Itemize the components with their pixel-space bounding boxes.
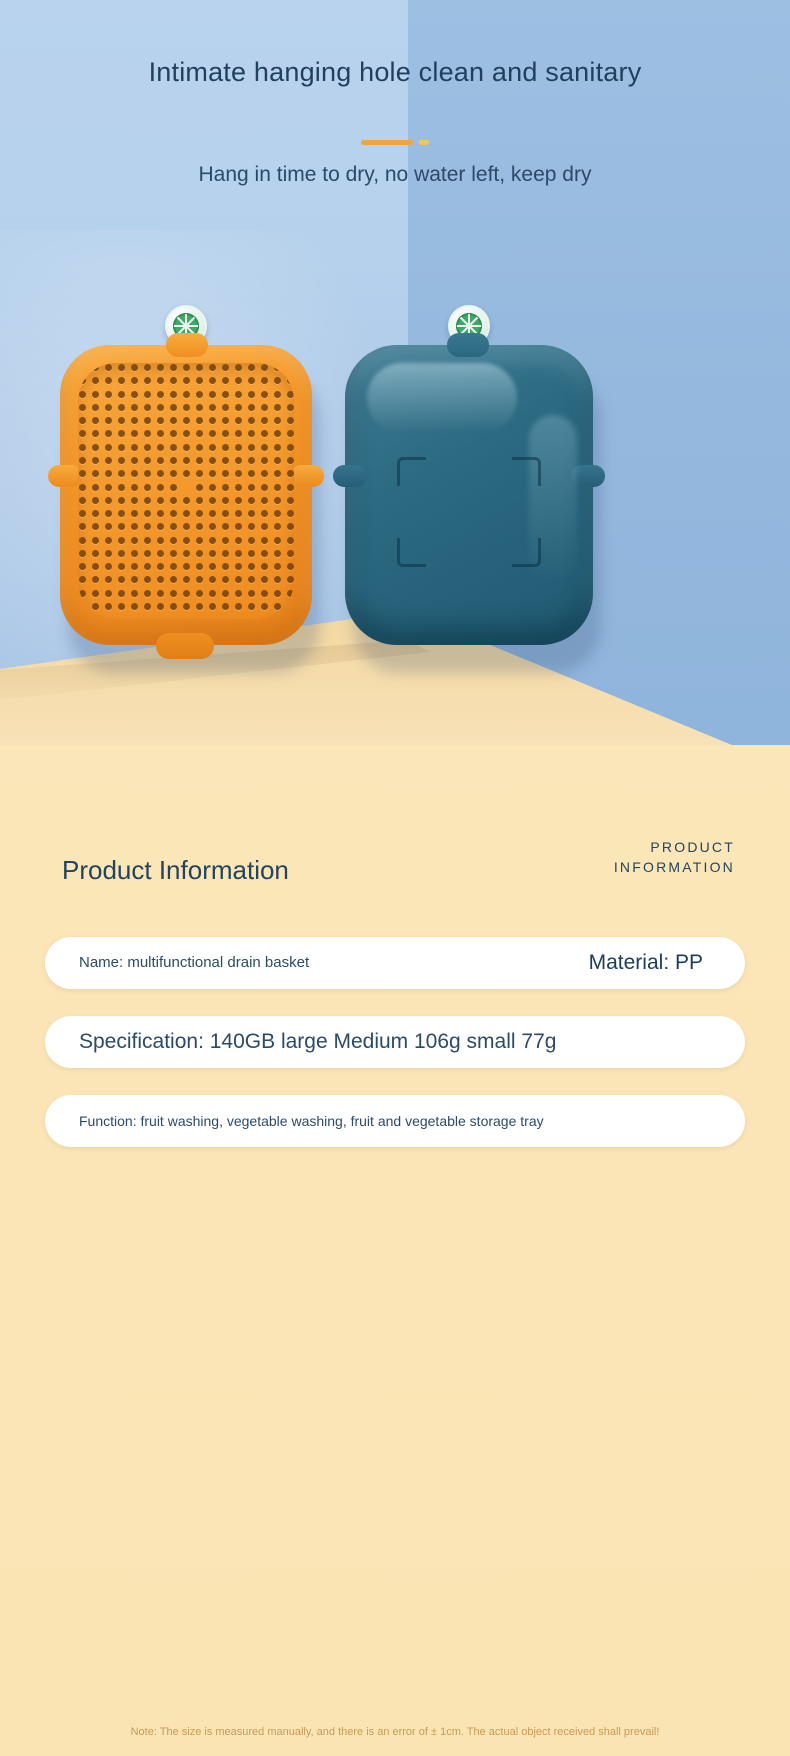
product-information-section: Product Information PRODUCT INFORMATION … bbox=[0, 745, 790, 1756]
teal-drain-basket bbox=[345, 345, 593, 645]
info-row-label: Name: multifunctional drain basket bbox=[79, 937, 309, 989]
section-heading: Product Information bbox=[62, 855, 289, 886]
basket-bottom-tab bbox=[156, 633, 214, 659]
heading-en-line1: PRODUCT bbox=[614, 837, 735, 857]
basket-top-tab bbox=[447, 333, 489, 357]
info-row-specification: Specification: 140GB large Medium 106g s… bbox=[45, 1016, 745, 1068]
basket-ear-left bbox=[333, 465, 367, 487]
basket-inner bbox=[78, 363, 294, 619]
orange-drain-basket bbox=[60, 345, 312, 645]
measurement-note: Note: The size is measured manually, and… bbox=[0, 1726, 790, 1738]
info-row-function: Function: fruit washing, vegetable washi… bbox=[45, 1095, 745, 1147]
heading-en-line2: INFORMATION bbox=[614, 857, 735, 877]
hero-title: Intimate hanging hole clean and sanitary bbox=[0, 57, 790, 88]
info-row-label: Specification: 140GB large Medium 106g s… bbox=[79, 1016, 556, 1068]
hero-subtitle: Hang in time to dry, no water left, keep… bbox=[0, 163, 790, 187]
basket-highlight bbox=[367, 363, 517, 433]
info-row-material: Material: PP bbox=[589, 937, 703, 989]
section-heading-english: PRODUCT INFORMATION bbox=[614, 837, 735, 878]
divider-bar-long bbox=[361, 140, 413, 145]
corner-mark bbox=[512, 538, 541, 567]
hero-section: Intimate hanging hole clean and sanitary… bbox=[0, 0, 790, 745]
product-detail-page: Intimate hanging hole clean and sanitary… bbox=[0, 0, 790, 1756]
hero-divider bbox=[0, 134, 790, 152]
corner-mark bbox=[397, 457, 426, 486]
info-row-label: Function: fruit washing, vegetable washi… bbox=[79, 1095, 544, 1147]
info-row-name: Name: multifunctional drain basket Mater… bbox=[45, 937, 745, 989]
basket-top-tab bbox=[166, 333, 208, 357]
corner-mark bbox=[397, 538, 426, 567]
divider-bar-short bbox=[419, 140, 429, 145]
basket-ear-right bbox=[290, 465, 324, 487]
corner-mark bbox=[512, 457, 541, 486]
basket-ear-left bbox=[48, 465, 82, 487]
drain-holes bbox=[78, 363, 294, 619]
